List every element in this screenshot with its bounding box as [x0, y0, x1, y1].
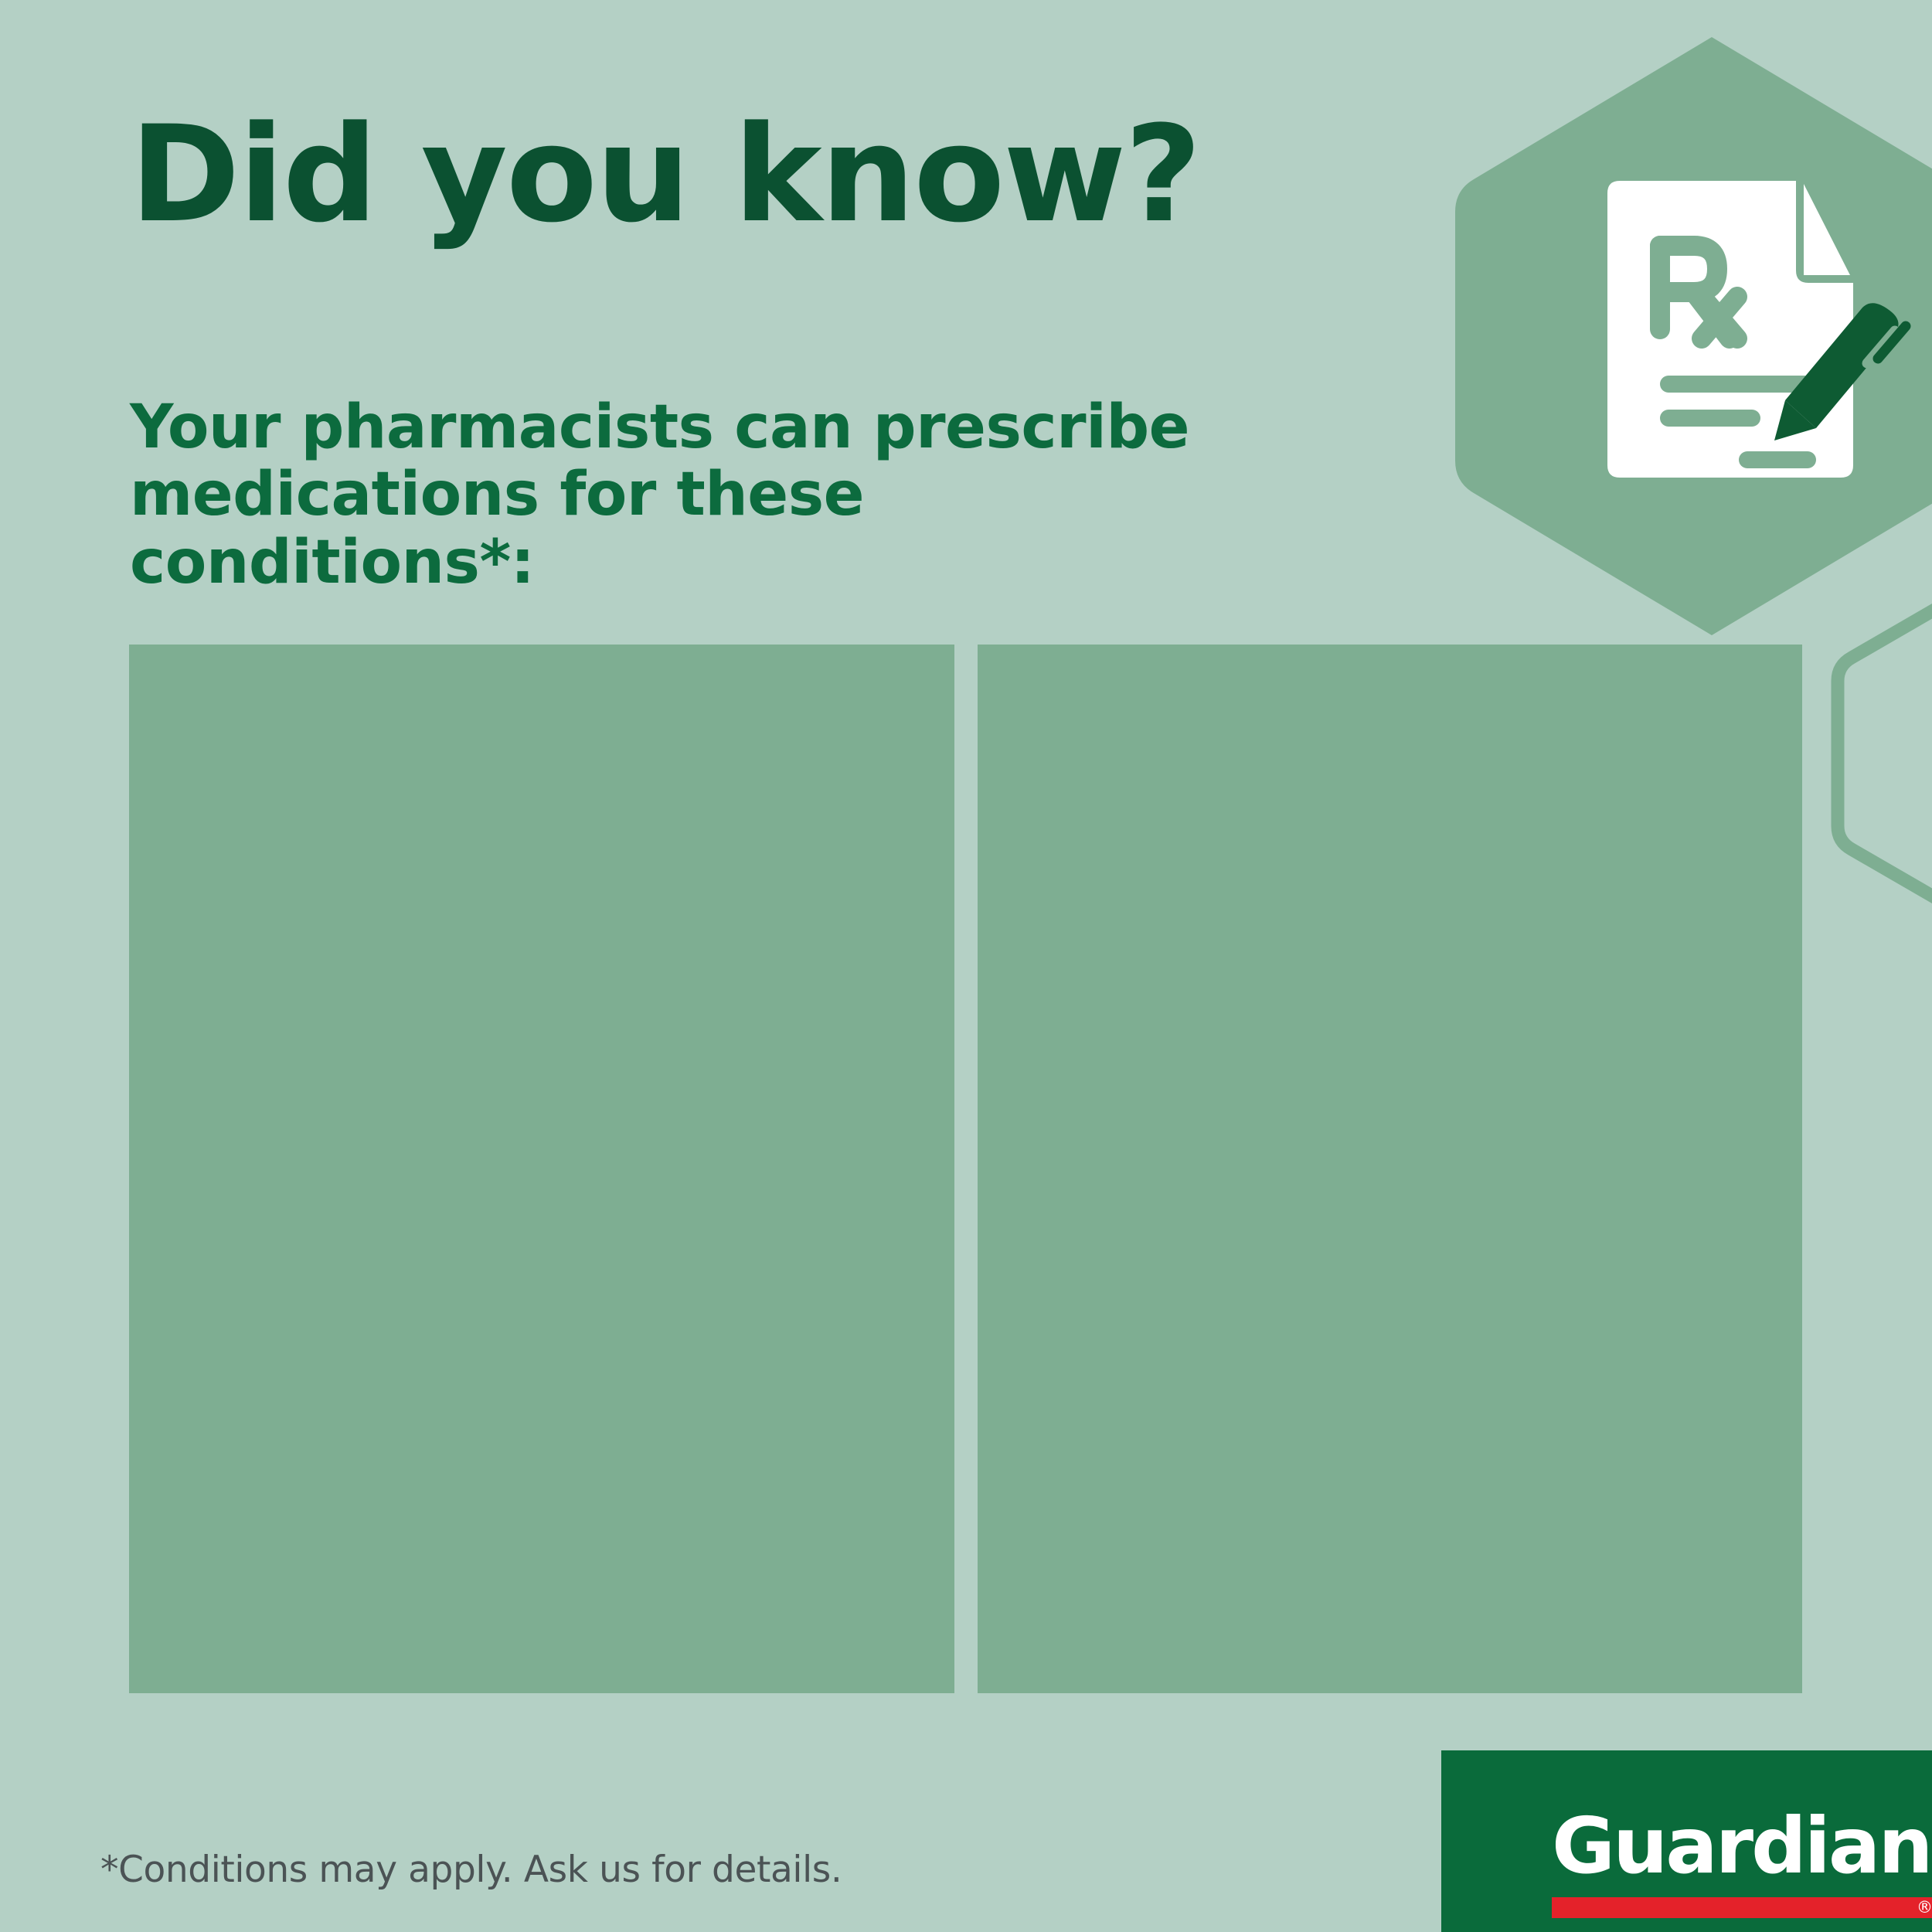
registered-trademark-icon: ® [1914, 1897, 1932, 1918]
pen-icon [1774, 303, 1906, 440]
footnote-disclaimer: *Conditions may apply. Ask us for detail… [100, 1849, 842, 1891]
hexagon-outline-decoration [1824, 514, 1932, 993]
condition-list-right-panel [978, 645, 1802, 1693]
hexagon-solid-decoration [1449, 31, 1932, 641]
subtitle-line-1: Your pharmacists can prescribe [130, 394, 1289, 461]
condition-list-left-panel [129, 645, 954, 1693]
condition-panels [129, 645, 1802, 1693]
guardian-wordmark: Guardian [1552, 1808, 1931, 1885]
poster-canvas: Did you know? Your pharmacists can presc… [0, 0, 1932, 1932]
page-subtitle: Your pharmacists can prescribe medicatio… [130, 394, 1289, 597]
page-title: Did you know? [130, 108, 1289, 241]
guardian-logo: Guardian ® [1441, 1750, 1932, 1932]
guardian-red-rule [1552, 1897, 1932, 1918]
prescription-document-icon [1592, 179, 1917, 488]
subtitle-line-2: medications for these conditions*: [130, 461, 1289, 597]
